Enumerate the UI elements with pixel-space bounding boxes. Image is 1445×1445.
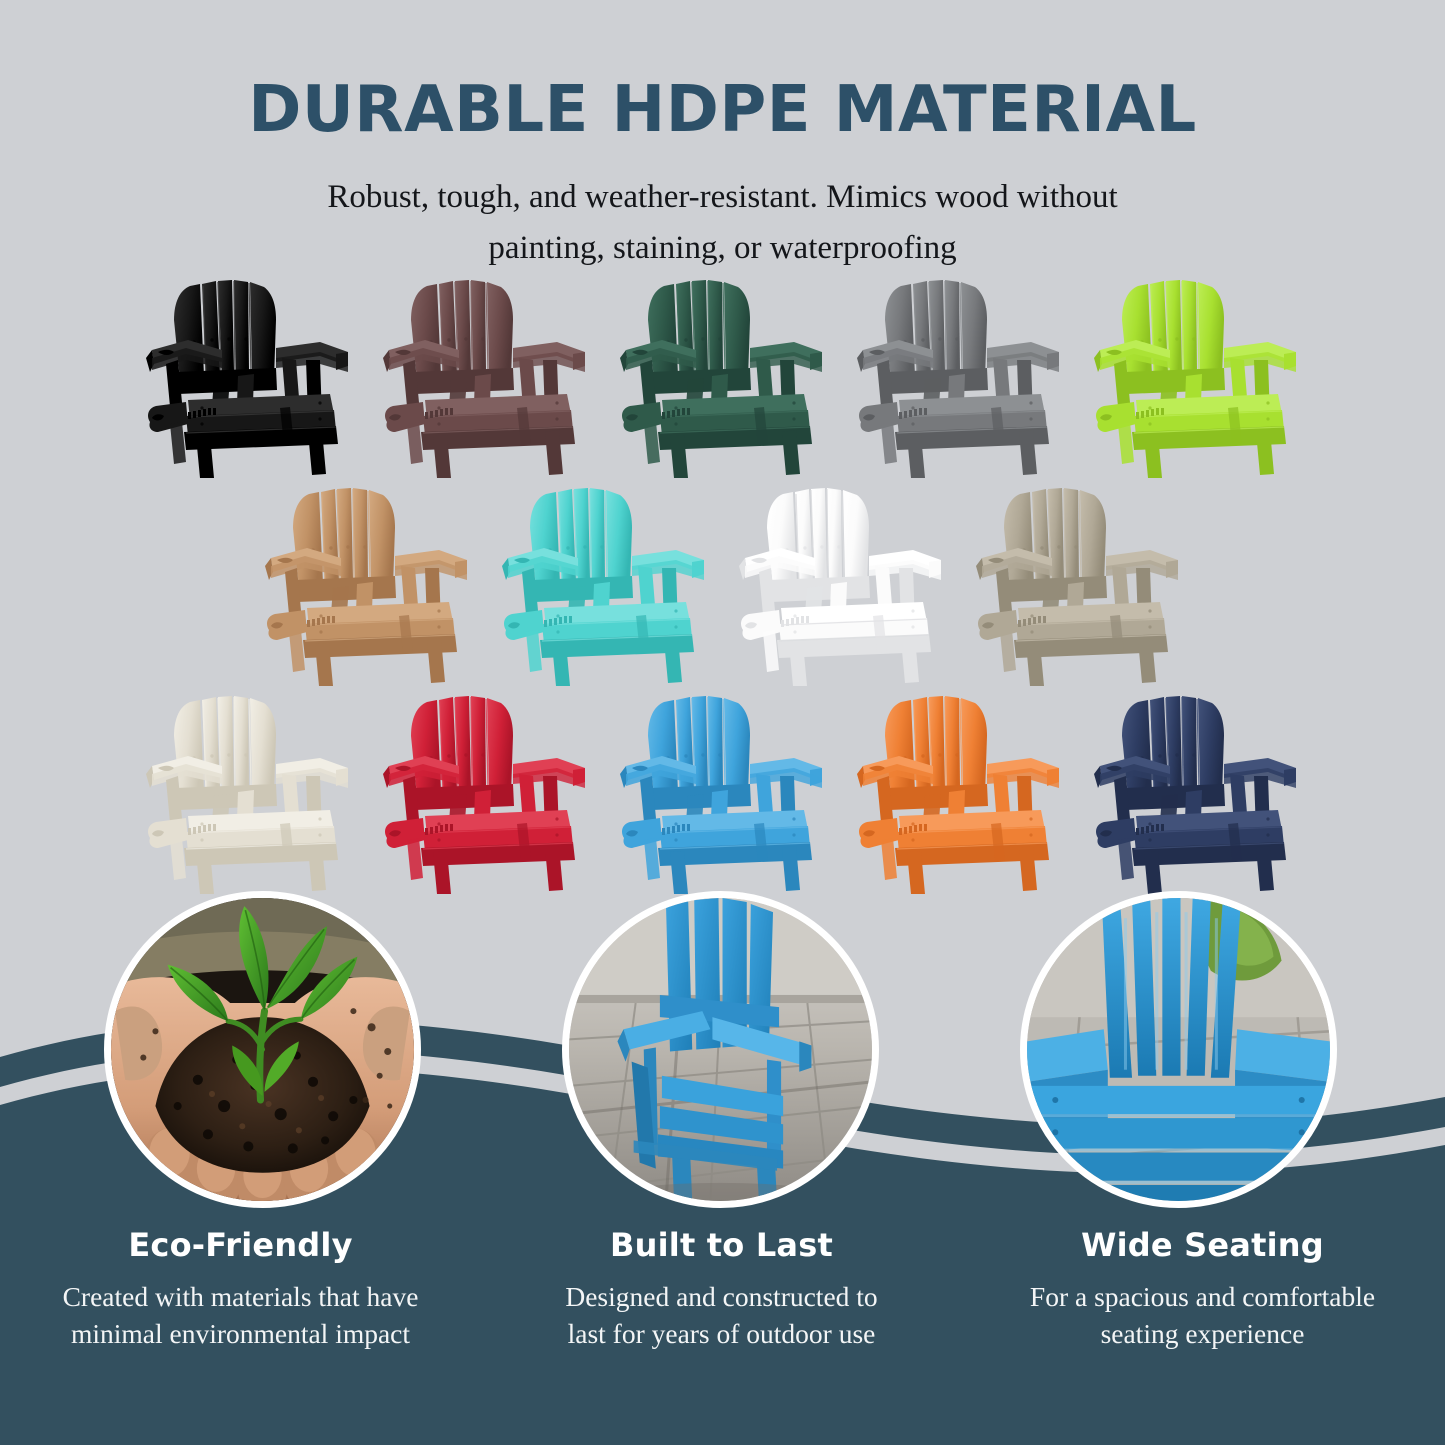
- chair-row-2: [0, 480, 1445, 688]
- feature-desc-line-2: minimal environmental impact: [71, 1318, 410, 1349]
- chair-swatch-gray-beige[interactable]: [960, 480, 1197, 688]
- feature-eco-friendly: Eco-Friendly Created with materials that…: [0, 1228, 481, 1352]
- feature-desc-line-2: last for years of outdoor use: [568, 1318, 876, 1349]
- product-infographic-poster: DURABLE HDPE MATERIAL Robust, tough, and…: [0, 0, 1445, 1445]
- chair-swatch-lime-green[interactable]: [1078, 272, 1315, 480]
- hands-seedling-icon: [111, 898, 414, 1201]
- chair-row-1: [0, 272, 1445, 480]
- chair-swatch-white[interactable]: [723, 480, 960, 688]
- feature-desc-line-1: Created with materials that have: [63, 1281, 419, 1312]
- feature-title: Wide Seating: [976, 1228, 1429, 1263]
- blue-chair-patio-icon: [569, 898, 872, 1201]
- feature-desc-line-2: seating experience: [1101, 1318, 1305, 1349]
- chair-swatch-navy-blue[interactable]: [1078, 688, 1315, 896]
- feature-wide-seating: Wide Seating For a spacious and comforta…: [962, 1228, 1443, 1352]
- feature-description: For a spacious and comfortable seating e…: [976, 1278, 1429, 1352]
- chair-swatch-red[interactable]: [367, 688, 604, 896]
- feature-title: Built to Last: [495, 1228, 948, 1263]
- chair-swatch-gray[interactable]: [841, 272, 1078, 480]
- photo-blue-adirondack-chair-on-patio: [562, 891, 879, 1208]
- feature-title: Eco-Friendly: [14, 1228, 467, 1263]
- feature-desc-line-1: For a spacious and comfortable: [1030, 1281, 1375, 1312]
- page-title: DURABLE HDPE MATERIAL: [0, 78, 1445, 142]
- feature-description: Designed and constructed to last for yea…: [495, 1278, 948, 1352]
- blue-chair-wide-seat-icon: [1027, 898, 1330, 1201]
- feature-description: Created with materials that have minimal…: [14, 1278, 467, 1352]
- chair-swatch-brown[interactable]: [367, 272, 604, 480]
- subtitle-line-1: Robust, tough, and weather-resistant. Mi…: [327, 179, 1117, 215]
- header-block: DURABLE HDPE MATERIAL Robust, tough, and…: [0, 78, 1445, 274]
- feature-built-to-last: Built to Last Designed and constructed t…: [481, 1228, 962, 1352]
- photo-hands-holding-seedling-in-soil: [104, 891, 421, 1208]
- chair-swatch-orange[interactable]: [841, 688, 1078, 896]
- chair-swatch-light-blue[interactable]: [604, 688, 841, 896]
- feature-photo-row: [0, 888, 1445, 1223]
- feature-desc-line-1: Designed and constructed to: [565, 1281, 877, 1312]
- chair-swatch-black[interactable]: [130, 272, 367, 480]
- chair-swatch-dark-green[interactable]: [604, 272, 841, 480]
- photo-blue-adirondack-chair-wide-seat-closeup: [1020, 891, 1337, 1208]
- page-subtitle: Robust, tough, and weather-resistant. Mi…: [223, 172, 1223, 274]
- feature-text-row: Eco-Friendly Created with materials that…: [0, 1228, 1445, 1352]
- chair-color-swatch-grid: [0, 272, 1445, 896]
- chair-swatch-turquoise[interactable]: [486, 480, 723, 688]
- chair-swatch-teak[interactable]: [249, 480, 486, 688]
- subtitle-line-2: painting, staining, or waterproofing: [488, 230, 956, 266]
- chair-swatch-ivory[interactable]: [130, 688, 367, 896]
- chair-row-3: [0, 688, 1445, 896]
